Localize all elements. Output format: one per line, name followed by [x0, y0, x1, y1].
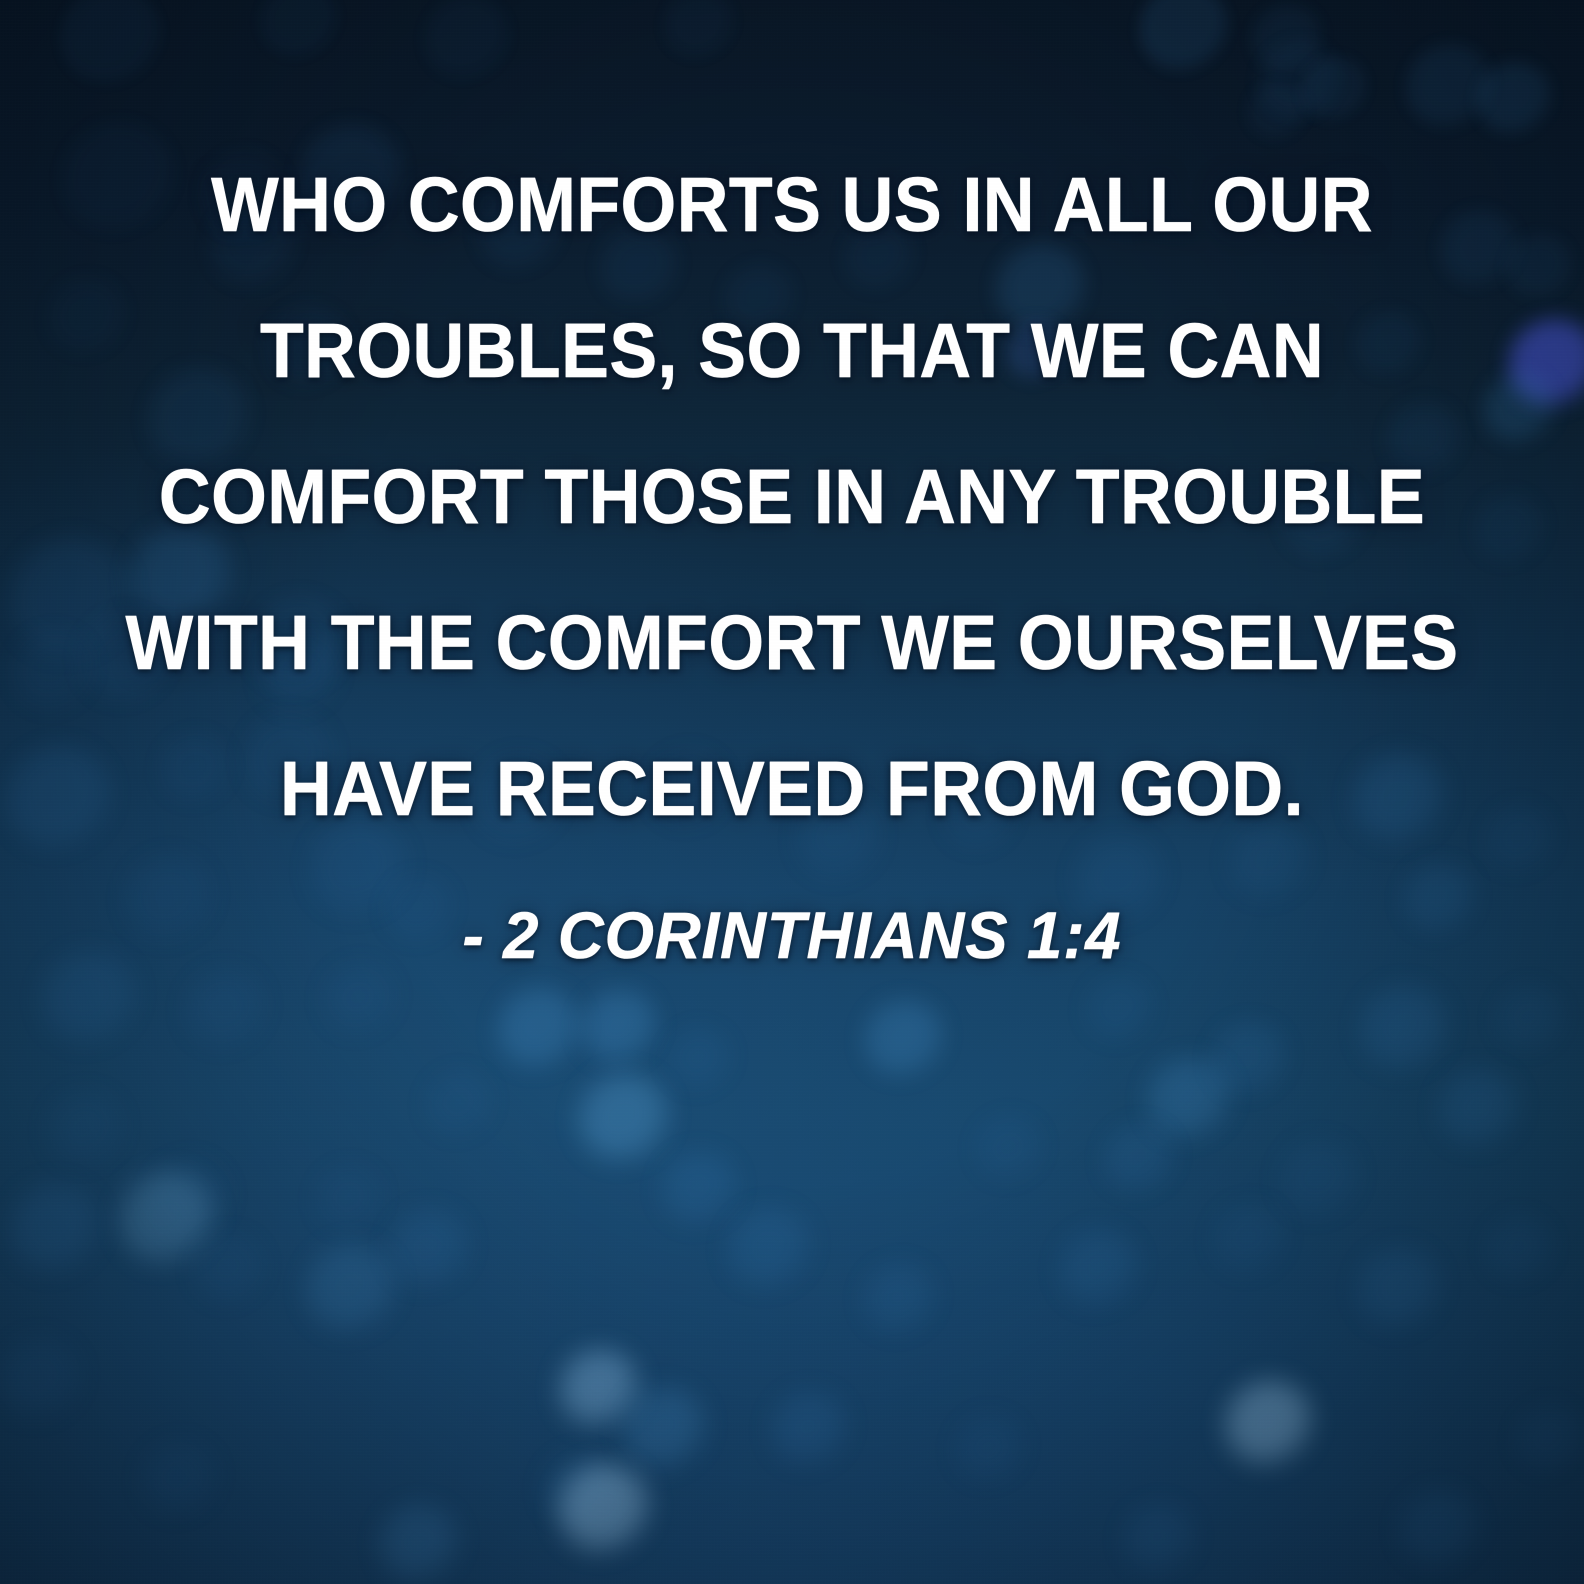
bokeh-dot [1283, 478, 1367, 562]
bokeh-dot [976, 1116, 1044, 1184]
bokeh-dot [10, 1184, 102, 1276]
bokeh-dot [380, 1505, 460, 1584]
bokeh-dot [10, 538, 134, 662]
verse-line-3: COMFORT THOSE IN ANY TROUBLE [55, 424, 1528, 570]
bokeh-dot [316, 1166, 384, 1234]
verse-attribution: - 2 CORINTHIANS 1:4 [32, 896, 1553, 974]
bokeh-dot [1124, 1504, 1196, 1576]
bokeh-dot [426, 1071, 494, 1139]
bokeh-dot [210, 202, 298, 290]
bokeh-dot [1006, 322, 1066, 382]
bokeh-dot [664, 0, 736, 62]
bokeh-dot [1148, 1058, 1232, 1142]
bokeh-dot [60, 0, 164, 90]
bokeh-dot [120, 1172, 216, 1268]
bokeh-dot [14, 632, 94, 712]
bokeh-dot [1440, 210, 1520, 290]
bokeh-dot [306, 1244, 398, 1336]
bokeh-dot [1258, 40, 1342, 124]
bokeh-dot [148, 368, 252, 472]
bokeh-dot [956, 1416, 1024, 1484]
bokeh-dot [600, 228, 680, 308]
bokeh-dot [200, 150, 292, 242]
verse-line-1: WHO COMFORTS US IN ALL OUR [55, 132, 1528, 278]
bokeh-dot [1280, 1140, 1360, 1220]
bokeh-dot [498, 988, 582, 1072]
verse-text-block: WHO COMFORTS US IN ALL OUR TROUBLES, SO … [0, 132, 1584, 974]
bokeh-dot [652, 752, 728, 828]
verse-line-5: HAVE RECEIVED FROM GOD. [55, 716, 1528, 862]
bokeh-dot [1252, 4, 1324, 76]
bokeh-dot [1477, 62, 1553, 138]
bokeh-dot [772, 1392, 848, 1468]
bokeh-dot [1486, 806, 1554, 874]
bokeh-dot [1076, 836, 1164, 924]
bokeh-dot [390, 1210, 470, 1290]
bokeh-dot [1214, 1204, 1286, 1276]
bokeh-dot [48, 1092, 124, 1168]
bokeh-dot [1226, 1381, 1314, 1469]
bokeh-dot [1301, 56, 1369, 124]
bokeh-dot [324, 964, 396, 1036]
bokeh-dot [1400, 1490, 1480, 1570]
bokeh-dot [844, 222, 916, 294]
bokeh-dot [252, 598, 348, 694]
bokeh-dot [1248, 82, 1308, 142]
bokeh-dot [560, 1350, 640, 1430]
bokeh-dot [424, 0, 512, 84]
bokeh-dot [130, 526, 234, 630]
bokeh-dot [668, 1028, 732, 1092]
bokeh-dot [1361, 986, 1449, 1074]
bokeh-dot [186, 970, 266, 1050]
bokeh-dot [478, 190, 562, 274]
bokeh-dot [194, 1234, 266, 1306]
bokeh-dot [1440, 1070, 1520, 1150]
bokeh-dot [728, 1208, 812, 1292]
bokeh-dot [476, 756, 564, 844]
bokeh-dot [944, 780, 1016, 852]
bokeh-dot [48, 278, 128, 358]
bokeh-dot [1060, 1230, 1140, 1310]
bokeh-dot [798, 798, 882, 882]
bokeh-dot [1506, 234, 1574, 302]
bokeh-dot [1139, 0, 1231, 76]
bokeh-dot [579, 1074, 671, 1166]
bokeh-dot [865, 1000, 945, 1080]
bokeh-dot [6, 746, 114, 854]
bokeh-dot [559, 1464, 651, 1556]
bokeh-dot [1516, 1406, 1584, 1474]
bokeh-dot [996, 244, 1088, 336]
bokeh-dot [544, 1454, 616, 1526]
bokeh-dot [260, 636, 340, 716]
bokeh-light-field [0, 0, 1584, 1584]
bokeh-dot [724, 264, 796, 336]
bokeh-dot [1356, 311, 1424, 379]
bokeh-dot [1486, 1216, 1554, 1284]
bokeh-dot [1104, 1124, 1176, 1196]
bokeh-dot [268, 306, 352, 390]
film-grain-overlay [0, 0, 1584, 1584]
bokeh-dot [142, 1442, 218, 1518]
bokeh-dot [0, 1338, 82, 1422]
verse-line-4: WITH THE COMFORT WE OURSELVES [55, 570, 1528, 716]
bokeh-dot [1086, 976, 1154, 1044]
bokeh-dot [42, 952, 138, 1048]
bokeh-dot [1404, 864, 1476, 936]
bokeh-dot [1387, 402, 1463, 478]
bokeh-dot [662, 1152, 738, 1228]
bokeh-dot [582, 990, 658, 1066]
bokeh-dot [1484, 374, 1556, 446]
bokeh-dot [160, 734, 232, 806]
bokeh-dot [310, 820, 410, 920]
verse-line-2: TROUBLES, SO THAT WE CAN [55, 278, 1528, 424]
bokeh-dot [1358, 1248, 1442, 1332]
bokeh-dot [1509, 319, 1584, 411]
bokeh-dot [260, 0, 340, 62]
bokeh-dot [1496, 986, 1564, 1054]
bokeh-dot [300, 124, 404, 228]
bokeh-dot [62, 122, 178, 238]
bokeh-dot [150, 1160, 230, 1240]
bokeh-dot [1230, 822, 1310, 902]
bokeh-dot [623, 1388, 707, 1472]
verse-image-canvas: WHO COMFORTS US IN ALL OUR TROUBLES, SO … [0, 0, 1584, 1584]
vignette-overlay [0, 0, 1584, 1584]
bokeh-dot [126, 856, 214, 944]
bokeh-dot [1474, 494, 1546, 566]
background-glow [0, 0, 1584, 1584]
bokeh-dot [864, 1264, 936, 1336]
bokeh-dot [82, 616, 170, 704]
bokeh-dot [1212, 1022, 1288, 1098]
bokeh-dot [244, 714, 336, 806]
bokeh-dot [1354, 754, 1446, 846]
bokeh-dot [1406, 44, 1494, 132]
bokeh-dot [386, 876, 454, 944]
